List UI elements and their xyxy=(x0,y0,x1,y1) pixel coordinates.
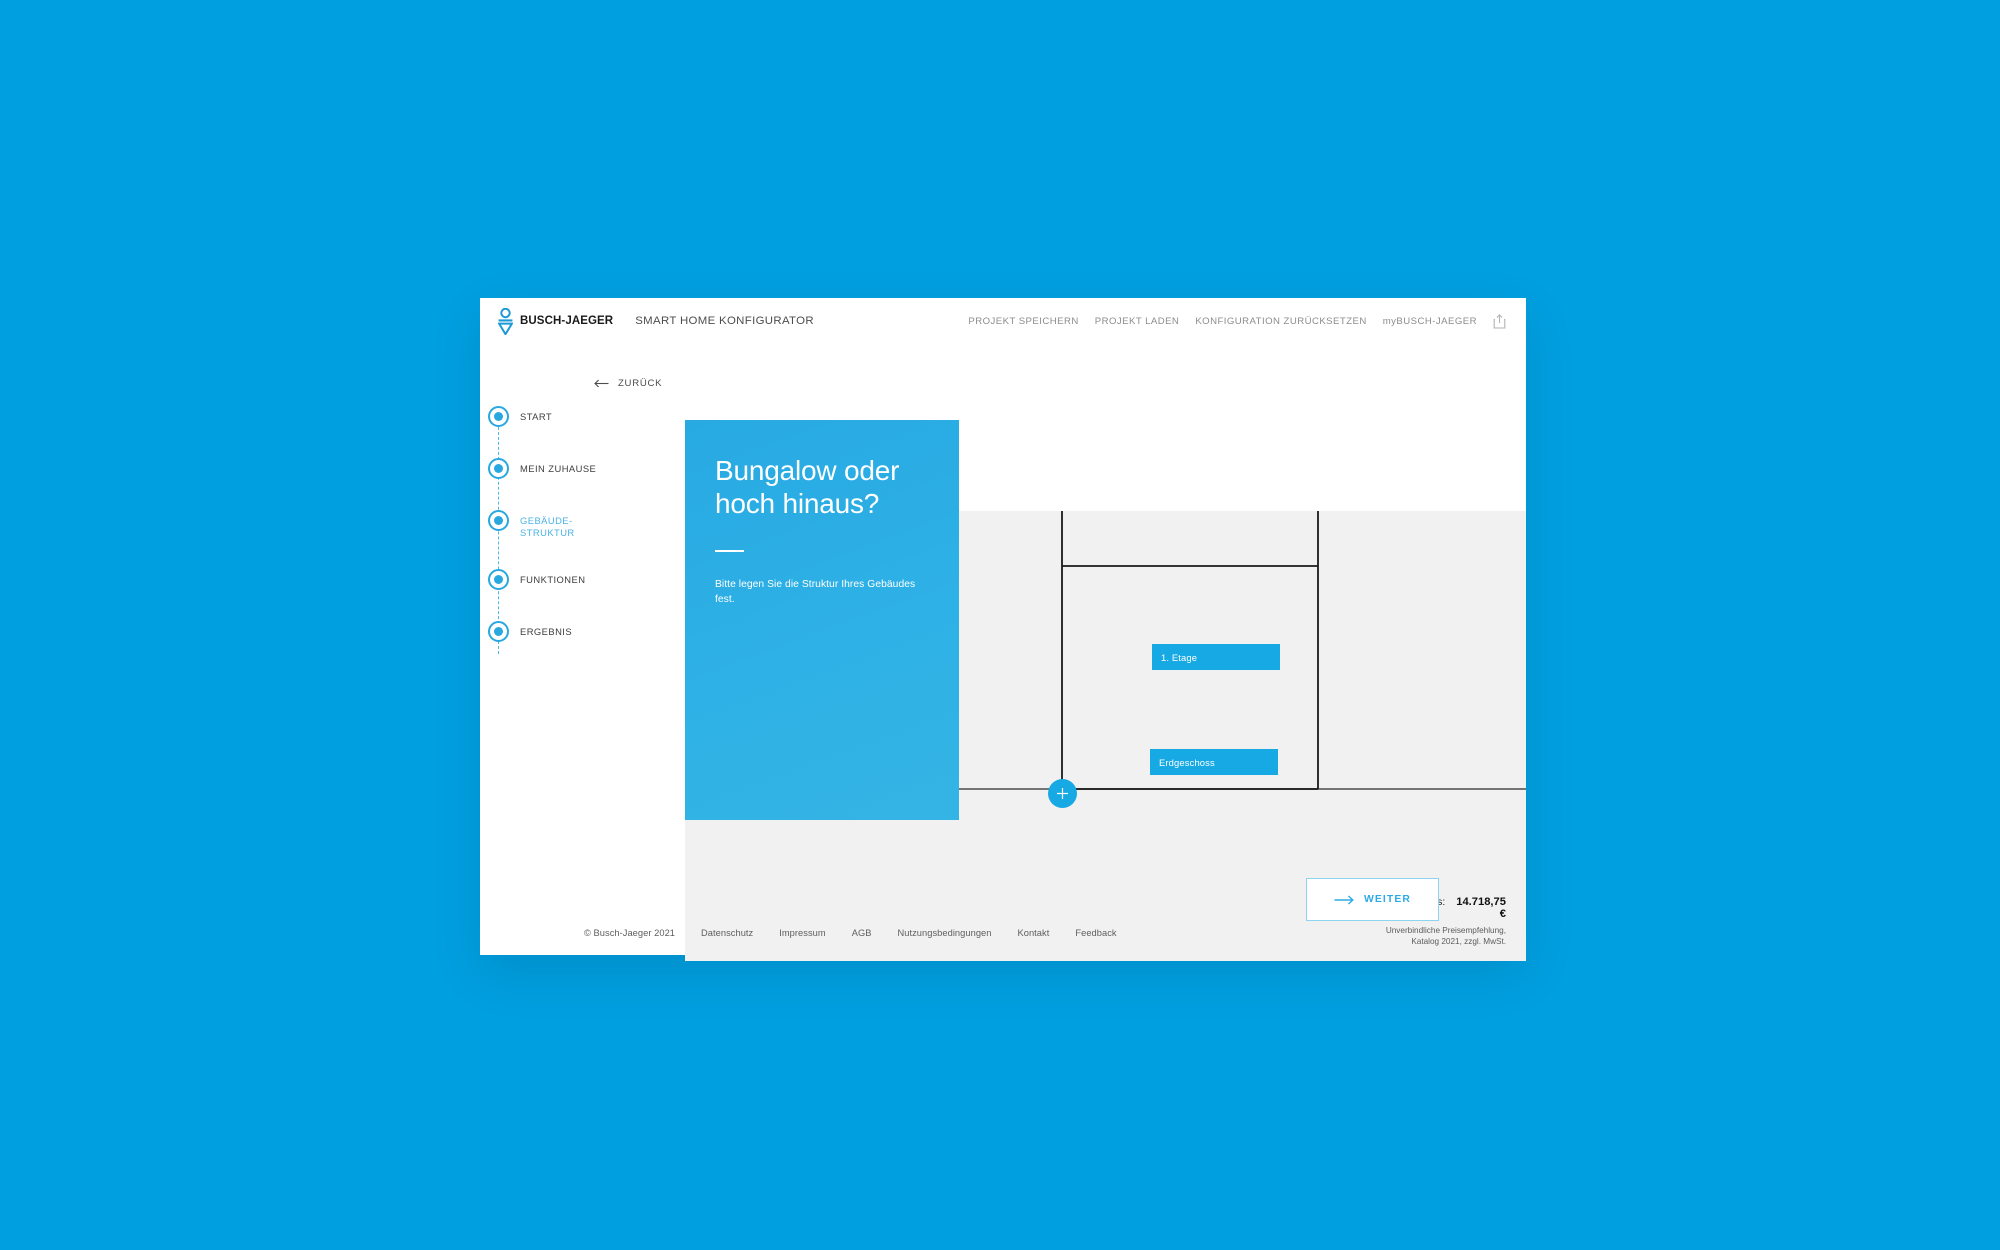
back-link[interactable]: ZURÜCK xyxy=(594,378,662,389)
busch-jaeger-logo-icon xyxy=(498,308,513,335)
price-value: 14.718,75 € xyxy=(1456,896,1506,920)
weiter-button-label: WEITER xyxy=(1364,894,1411,905)
step-dot-icon xyxy=(488,621,509,642)
page-title: Bungalow oder hoch hinaus? xyxy=(715,454,929,520)
brand-name: BUSCH-JAEGER xyxy=(520,315,613,327)
floor-tag-label: Erdgeschoss xyxy=(1159,757,1215,768)
nav-projekt-laden[interactable]: PROJEKT LADEN xyxy=(1095,316,1180,327)
sidebar-item-start[interactable]: START xyxy=(488,406,552,427)
step-label-start: START xyxy=(520,411,552,423)
sidebar-item-funktionen[interactable]: FUNKTIONEN xyxy=(488,569,585,590)
step-dot-icon xyxy=(488,458,509,479)
app-header: BUSCH-JAEGER SMART HOME KONFIGURATOR PRO… xyxy=(480,298,1526,344)
intro-panel: Bungalow oder hoch hinaus? Bitte legen S… xyxy=(685,420,959,820)
share-icon[interactable] xyxy=(1493,314,1506,329)
intro-body-text: Bitte legen Sie die Struktur Ihres Gebäu… xyxy=(715,578,929,608)
footer: © Busch-Jaeger 2021 Datenschutz Impressu… xyxy=(584,928,1117,938)
nav-projekt-speichern[interactable]: PROJEKT SPEICHERN xyxy=(968,316,1078,327)
step-label-mein-zuhause: MEIN ZUHAUSE xyxy=(520,463,596,475)
step-label-funktionen: FUNKTIONEN xyxy=(520,574,585,586)
title-divider xyxy=(715,550,744,552)
header-nav: PROJEKT SPEICHERN PROJEKT LADEN KONFIGUR… xyxy=(968,314,1506,329)
add-floor-button[interactable] xyxy=(1048,779,1077,808)
footer-copyright: © Busch-Jaeger 2021 xyxy=(584,928,675,938)
back-link-label: ZURÜCK xyxy=(618,378,662,389)
footer-link-kontakt[interactable]: Kontakt xyxy=(1017,928,1049,938)
arrow-right-icon xyxy=(1334,895,1354,905)
footer-link-feedback[interactable]: Feedback xyxy=(1075,928,1116,938)
floor-tag-erdgeschoss[interactable]: Erdgeschoss xyxy=(1150,749,1278,775)
footer-link-nutzungsbedingungen[interactable]: Nutzungsbedingungen xyxy=(897,928,991,938)
brand-block[interactable]: BUSCH-JAEGER xyxy=(498,308,613,335)
footer-link-datenschutz[interactable]: Datenschutz xyxy=(701,928,753,938)
sidebar-item-gebaeude-struktur[interactable]: GEBÄUDE- STRUKTUR xyxy=(488,510,575,539)
configurator-window: BUSCH-JAEGER SMART HOME KONFIGURATOR PRO… xyxy=(480,298,1526,955)
plus-icon xyxy=(1056,787,1069,800)
floor-tag-1-etage[interactable]: 1. Etage xyxy=(1152,644,1280,670)
step-dot-icon xyxy=(488,569,509,590)
app-title: SMART HOME KONFIGURATOR xyxy=(635,315,814,327)
sidebar-item-mein-zuhause[interactable]: MEIN ZUHAUSE xyxy=(488,458,596,479)
nav-my-busch-jaeger[interactable]: myBUSCH-JAEGER xyxy=(1383,316,1477,327)
arrow-left-icon xyxy=(594,379,609,388)
floor-tag-label: 1. Etage xyxy=(1161,652,1197,663)
footer-link-agb[interactable]: AGB xyxy=(852,928,872,938)
step-dot-icon xyxy=(488,406,509,427)
weiter-button[interactable]: WEITER xyxy=(1306,878,1439,921)
footer-link-impressum[interactable]: Impressum xyxy=(779,928,825,938)
step-label-gebaeude-struktur: GEBÄUDE- STRUKTUR xyxy=(520,515,575,539)
sidebar-item-ergebnis[interactable]: ERGEBNIS xyxy=(488,621,572,642)
nav-konfiguration-zuruecksetzen[interactable]: KONFIGURATION ZURÜCKSETZEN xyxy=(1195,316,1366,327)
step-label-ergebnis: ERGEBNIS xyxy=(520,626,572,638)
step-dot-icon xyxy=(488,510,509,531)
price-disclaimer: Unverbindliche Preisempfehlung, Katalog … xyxy=(1385,925,1506,947)
